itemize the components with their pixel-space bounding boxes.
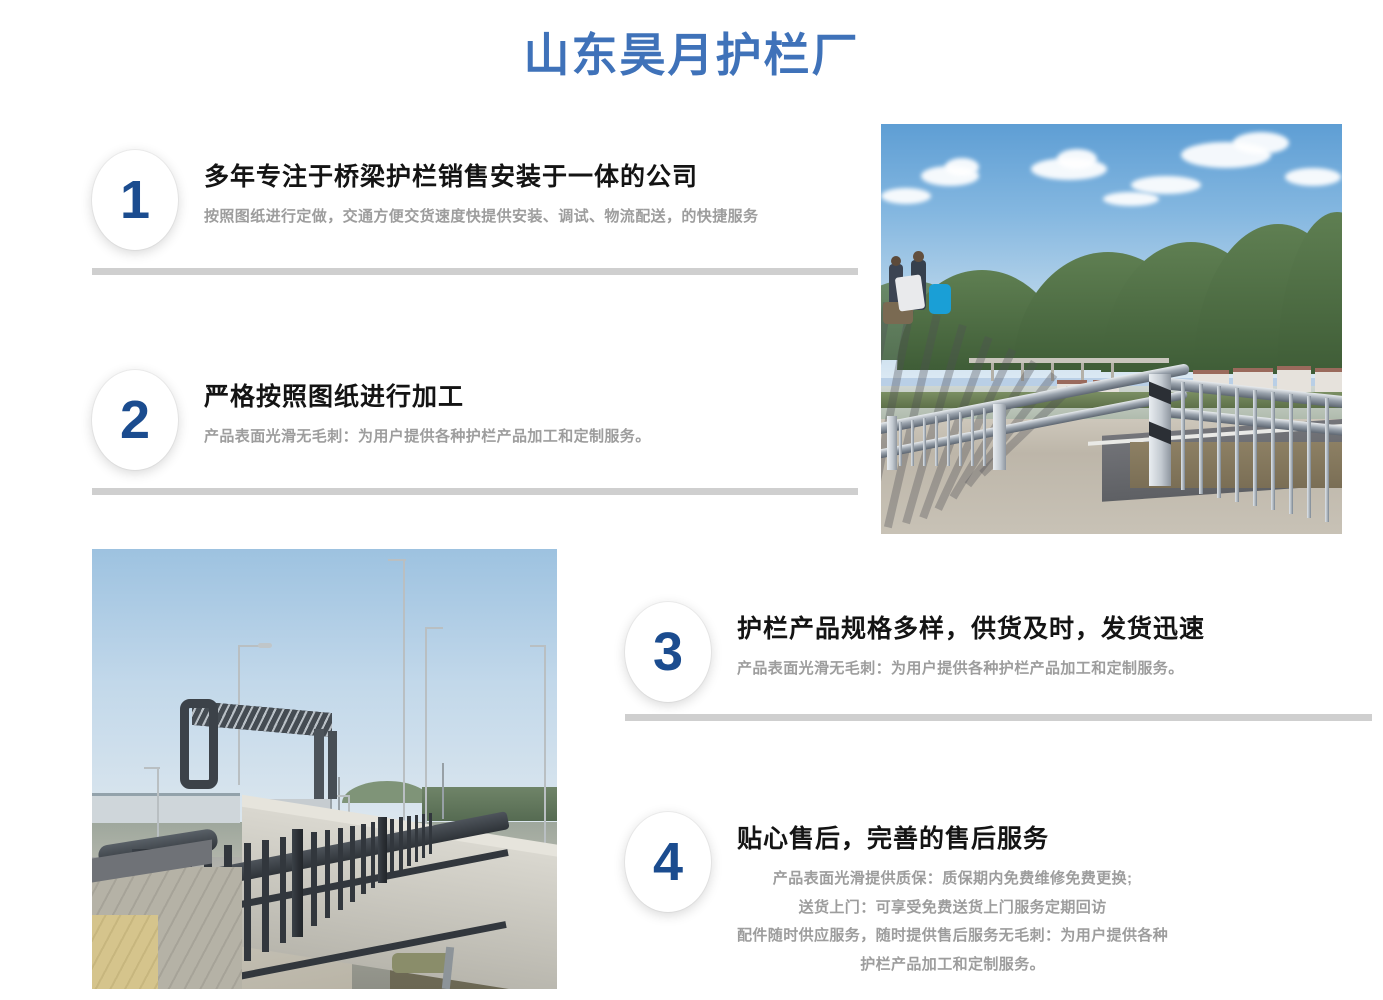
feature-text-2: 严格按照图纸进行加工 产品表面光滑无毛刺：为用户提供各种护栏产品加工和定制服务。 <box>178 370 651 449</box>
number-badge-3: 3 <box>625 602 711 702</box>
badge-number: 3 <box>653 625 683 679</box>
feature-subtitle-line: 护栏产品加工和定制服务。 <box>737 951 1168 980</box>
feature-title: 严格按照图纸进行加工 <box>204 382 651 413</box>
feature-subtitle-line: 配件随时供应服务，随时提供售后服务无毛刺：为用户提供各种 <box>737 922 1168 951</box>
guardrail-post <box>993 404 1006 470</box>
feature-title: 多年专注于桥梁护栏销售安装于一体的公司 <box>204 162 758 193</box>
divider-3 <box>625 714 1372 721</box>
number-badge-4: 4 <box>625 812 711 912</box>
street-lamp-arm <box>336 795 350 797</box>
gantry-leg <box>314 729 324 799</box>
power-pylon <box>442 763 444 819</box>
photo-bridge-guardrail-river <box>881 124 1342 534</box>
feature-subtitle: 产品表面光滑无毛刺：为用户提供各种护栏产品加工和定制服务。 <box>204 425 651 448</box>
poster-page: 山东昊月护栏厂 <box>0 0 1383 1000</box>
street-lamp-arm <box>530 645 546 647</box>
badge-number: 1 <box>120 173 150 227</box>
photo-dark-bridge-railing <box>92 549 557 989</box>
street-lamp-arm <box>144 767 160 769</box>
feature-title: 贴心售后，完善的售后服务 <box>737 824 1168 855</box>
worker-figure-crouching <box>929 284 951 314</box>
distant-building <box>92 793 240 823</box>
number-badge-2: 2 <box>92 370 178 470</box>
white-sheet <box>895 274 925 311</box>
gantry-leg <box>328 731 337 799</box>
divider-2 <box>92 488 858 495</box>
tactile-paving <box>92 915 158 989</box>
feature-subtitle: 按照图纸进行定做，交通方便交货速度快提供安装、调试、物流配送，的快捷服务 <box>204 205 758 228</box>
worker-figure <box>891 256 901 266</box>
feature-item-3: 3 护栏产品规格多样，供货及时，发货迅速 产品表面光滑无毛刺：为用户提供各种护栏… <box>625 602 1205 702</box>
feature-title: 护栏产品规格多样，供货及时，发货迅速 <box>737 614 1205 645</box>
railing-post <box>292 829 303 937</box>
distant-viaduct <box>969 358 1169 363</box>
badge-number: 4 <box>653 835 683 889</box>
feature-item-1: 1 多年专注于桥梁护栏销售安装于一体的公司 按照图纸进行定做，交通方便交货速度快… <box>92 150 758 250</box>
divider-1 <box>92 268 858 275</box>
feature-subtitle-lines: 产品表面光滑提供质保：质保期内免费维修免费更换; 送货上门：可享受免费送货上门服… <box>737 865 1168 979</box>
street-lamp <box>403 559 405 849</box>
street-lamp-arm <box>425 627 443 629</box>
number-badge-1: 1 <box>92 150 178 250</box>
feature-text-1: 多年专注于桥梁护栏销售安装于一体的公司 按照图纸进行定做，交通方便交货速度快提供… <box>178 150 758 229</box>
feature-subtitle-line: 产品表面光滑提供质保：质保期内免费维修免费更换; <box>737 865 1168 894</box>
worker-figure <box>913 251 924 262</box>
street-lamp-arm <box>388 559 406 561</box>
feature-subtitle-line: 送货上门：可享受免费送货上门服务定期回访 <box>737 894 1168 923</box>
feature-text-3: 护栏产品规格多样，供货及时，发货迅速 产品表面光滑无毛刺：为用户提供各种护栏产品… <box>711 602 1205 681</box>
page-title: 山东昊月护栏厂 <box>0 30 1383 81</box>
lamp-head <box>258 643 272 648</box>
railing-post <box>378 817 387 883</box>
street-lamp <box>157 767 159 847</box>
feature-subtitle: 产品表面光滑无毛刺：为用户提供各种护栏产品加工和定制服务。 <box>737 657 1205 680</box>
street-lamp <box>425 627 427 827</box>
feature-item-2: 2 严格按照图纸进行加工 产品表面光滑无毛刺：为用户提供各种护栏产品加工和定制服… <box>92 370 651 470</box>
feature-text-4: 贴心售后，完善的售后服务 产品表面光滑提供质保：质保期内免费维修免费更换; 送货… <box>711 812 1168 979</box>
gantry-frame <box>180 699 218 789</box>
feature-item-4: 4 贴心售后，完善的售后服务 产品表面光滑提供质保：质保期内免费维修免费更换; … <box>625 812 1168 979</box>
badge-number: 2 <box>120 393 150 447</box>
guardrail-post <box>887 416 897 470</box>
street-lamp <box>544 645 546 845</box>
